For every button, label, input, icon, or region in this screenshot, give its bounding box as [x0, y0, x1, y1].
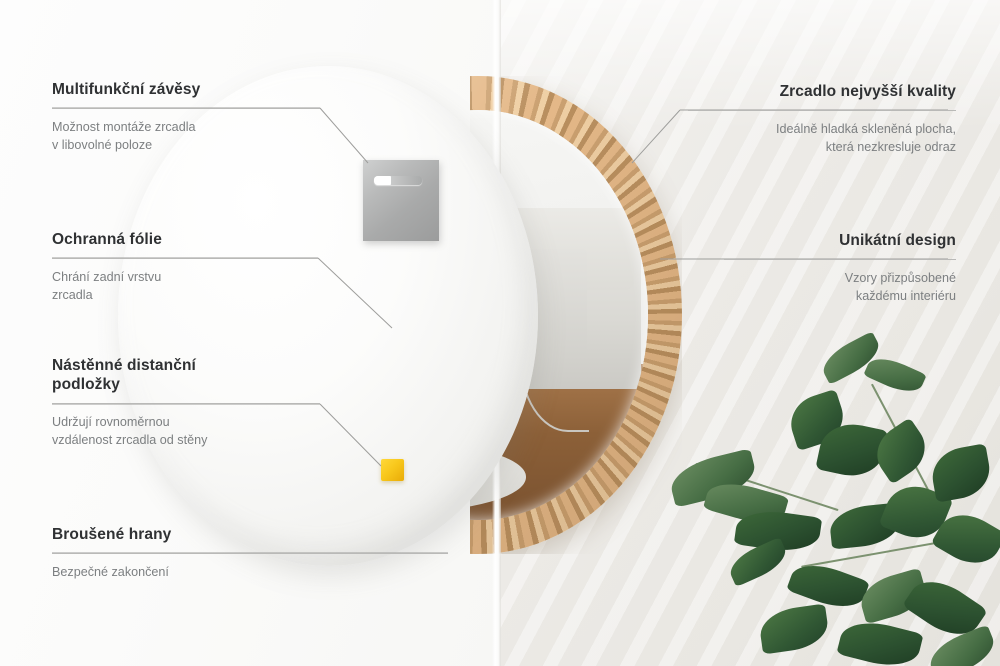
callout-zrcadlo-nejvyssi-kvality: Zrcadlo nejvyšší kvality Ideálně hladká … [688, 82, 956, 156]
infographic-stage: Multifunkční závěsy Možnost montáže zrca… [0, 0, 1000, 666]
callout-title-line2: podložky [52, 375, 320, 394]
callout-multifunkcni-zavesy: Multifunkční závěsy Možnost montáže zrca… [52, 80, 320, 154]
callout-title: Zrcadlo nejvyšší kvality [688, 82, 956, 101]
wall-spacer-pad [381, 459, 404, 481]
callout-desc-line1: Bezpečné zakončení [52, 564, 448, 582]
callout-rule [52, 553, 448, 554]
callout-rule [52, 108, 320, 109]
plant-leaf [863, 351, 927, 398]
callout-title: Ochranná fólie [52, 230, 318, 249]
plant-leaf [757, 603, 830, 654]
plant-leaf [928, 443, 994, 502]
callout-unikatni-design: Unikátní design Vzory přizpůsobené každé… [724, 231, 956, 305]
callout-desc-line2: vzdálenost zrcadla od stěny [52, 432, 320, 450]
callout-title: Multifunkční závěsy [52, 80, 320, 99]
callout-desc-line1: Udržují rovnoměrnou [52, 414, 320, 432]
callout-title: Unikátní design [724, 231, 956, 250]
callout-desc-line1: Možnost montáže zrcadla [52, 119, 320, 137]
foreground-plant [670, 336, 1000, 666]
plant-leaf [867, 417, 936, 484]
callout-brousene-hrany: Broušené hrany Bezpečné zakončení [52, 525, 448, 582]
callout-title: Broušené hrany [52, 525, 448, 544]
callout-desc-line2: zrcadla [52, 287, 318, 305]
callout-desc-line2: každému interiéru [724, 288, 956, 306]
callout-desc-line1: Ideálně hladká skleněná plocha, [688, 121, 956, 139]
callout-rule [688, 110, 956, 111]
callout-desc-line2: která nezkresluje odraz [688, 139, 956, 157]
callout-desc-line1: Chrání zadní vrstvu [52, 269, 318, 287]
callout-desc-line2: v libovolné poloze [52, 137, 320, 155]
callout-rule [724, 259, 956, 260]
callout-ochranna-folie: Ochranná fólie Chrání zadní vrstvu zrcad… [52, 230, 318, 304]
callout-rule [52, 403, 320, 404]
callout-rule [52, 258, 318, 259]
callout-title: Nástěnné distanční [52, 356, 320, 375]
hanging-bracket [363, 160, 439, 241]
plant-leaf [836, 615, 923, 666]
callout-desc-line1: Vzory přizpůsobené [724, 270, 956, 288]
bracket-keyhole-slot [374, 176, 422, 185]
callout-nastenne-distancni-podlozky: Nástěnné distanční podložky Udržují rovn… [52, 356, 320, 449]
